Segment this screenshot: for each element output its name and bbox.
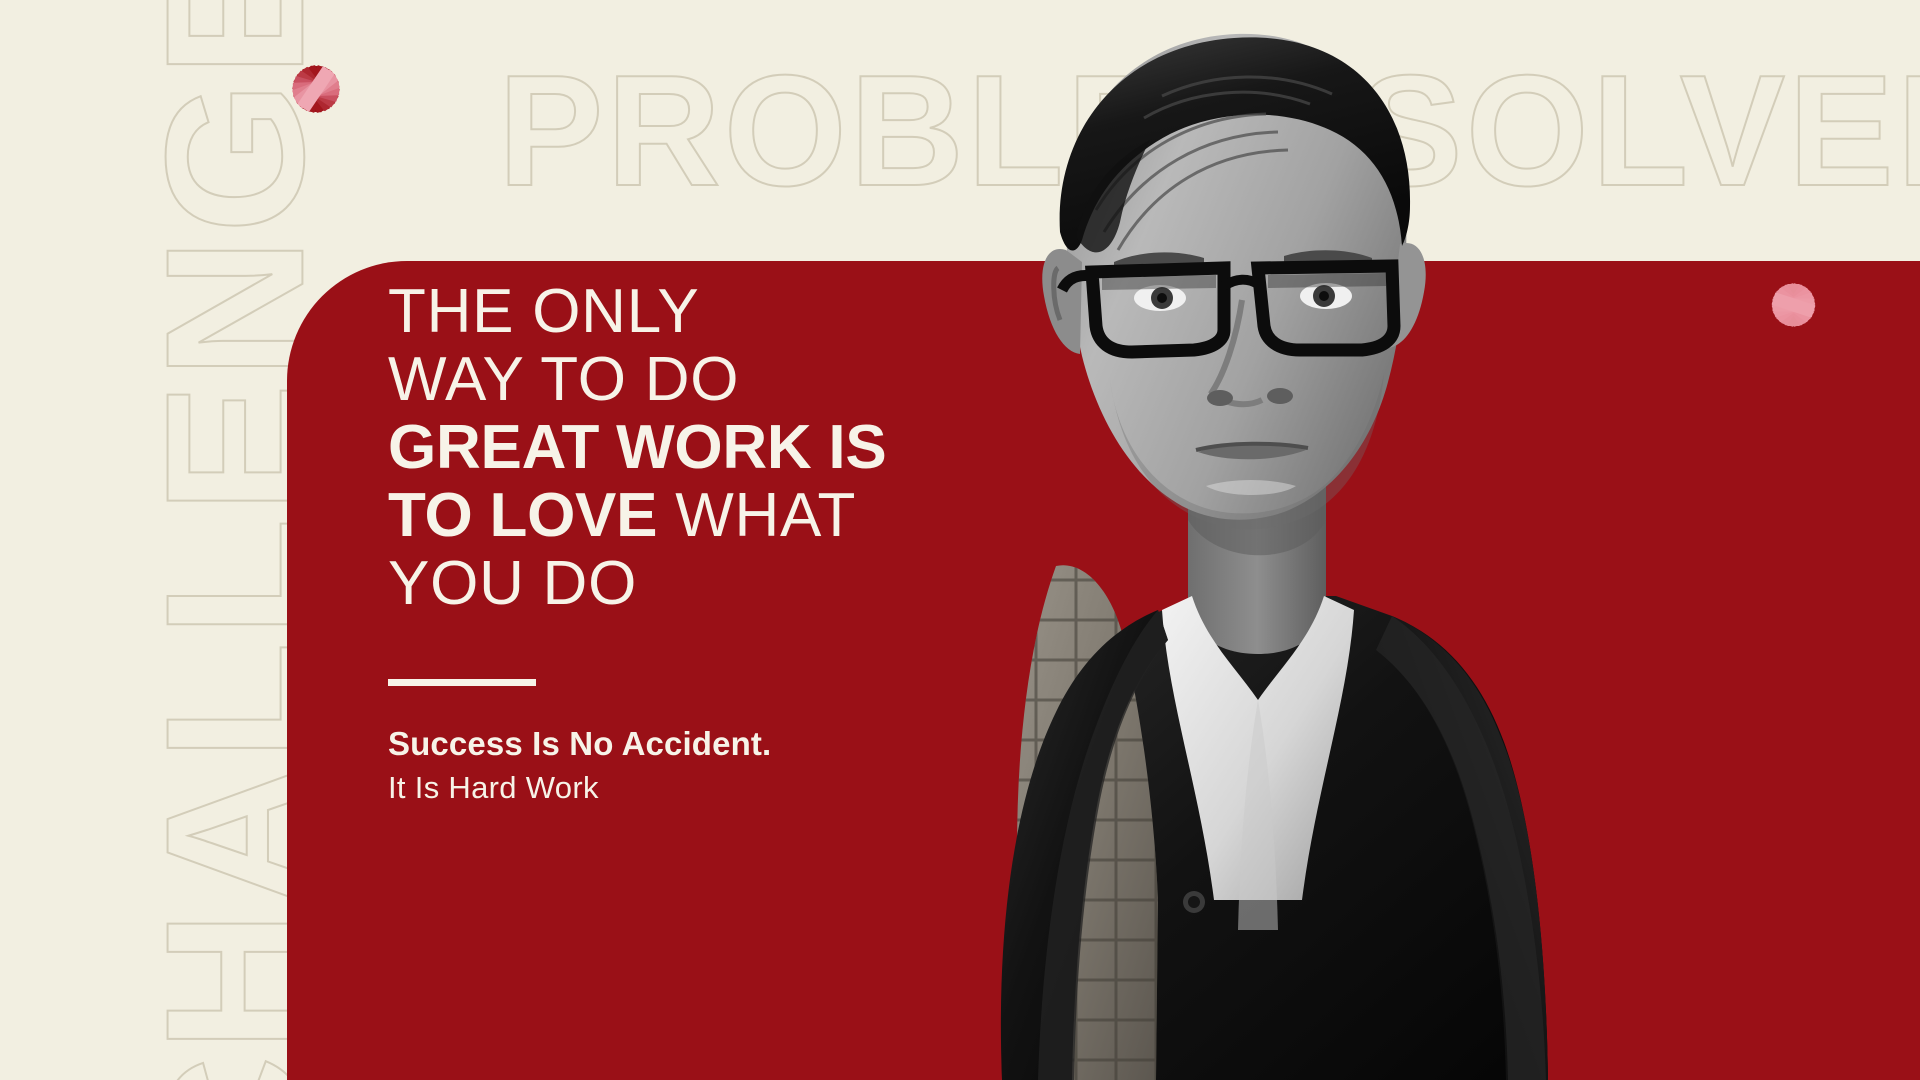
subtitle-block: Success Is No Accident. It Is Hard Work [388, 722, 771, 810]
quote-block: THE ONLY WAY TO DO GREAT WORK IS TO LOVE… [388, 278, 988, 618]
quote-line-4: TO LOVE WHAT [388, 482, 988, 550]
head [1042, 34, 1425, 530]
quote-line-3: GREAT WORK IS [388, 414, 988, 482]
ear [1042, 249, 1082, 354]
dashed-arc-right-icon [1628, 272, 1920, 602]
quote-line-4-bold: TO LOVE [388, 481, 657, 550]
quote-line-1: THE ONLY [388, 278, 988, 346]
subtitle-line-1: Success Is No Accident. [388, 722, 771, 766]
quote-line-4-light: WHAT [657, 481, 856, 550]
poster-canvas: PROBLEM SOLVER CHALLENGE [0, 0, 1920, 1080]
divider-rule [388, 679, 536, 686]
quote-line-5: YOU DO [388, 550, 988, 618]
subtitle-line-2: It Is Hard Work [388, 766, 771, 810]
portrait-photo [906, 0, 1606, 1080]
quote-line-2: WAY TO DO [388, 346, 988, 414]
